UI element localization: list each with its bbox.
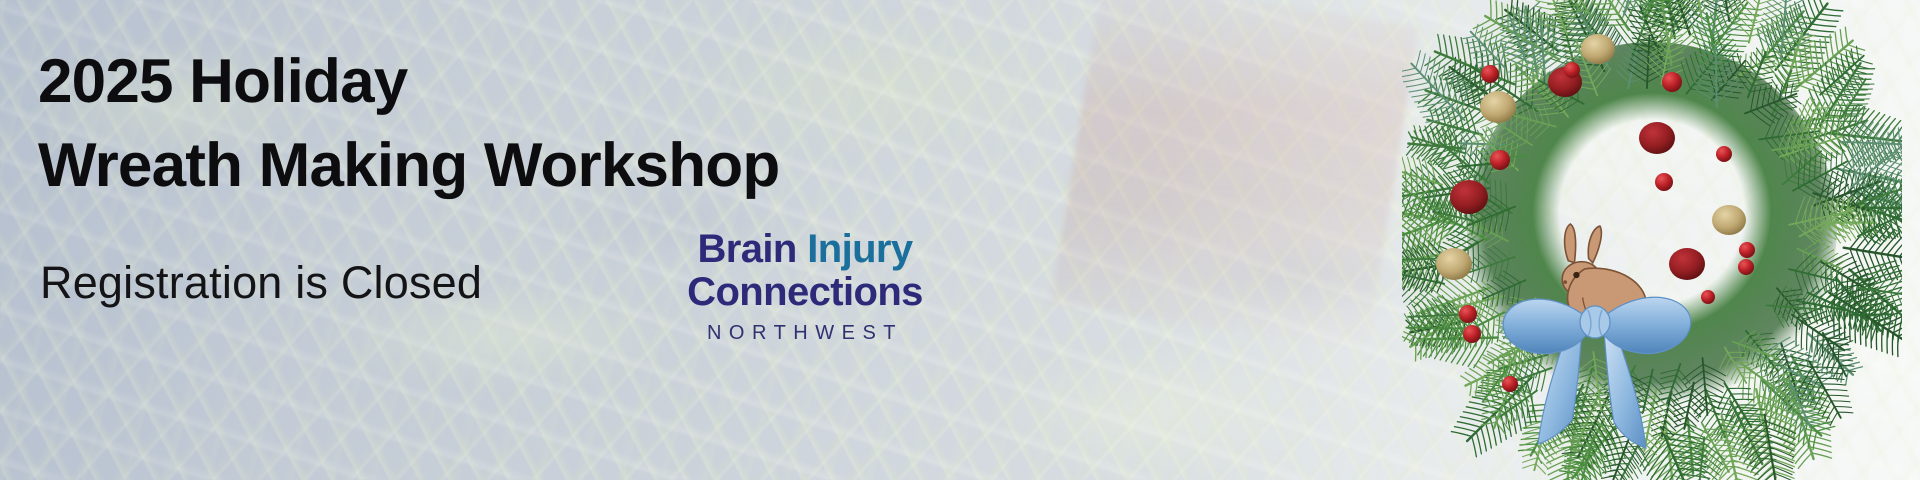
holiday-workshop-banner: 2025 Holiday Wreath Making Workshop Regi… xyxy=(0,0,1920,480)
page-title: 2025 Holiday Wreath Making Workshop xyxy=(38,40,779,207)
organization-logo: Brain Injury Connections NORTHWEST xyxy=(640,228,970,345)
logo-word-brain: Brain xyxy=(697,227,796,271)
logo-word-injury: Injury xyxy=(807,227,912,271)
logo-line-one: Brain Injury xyxy=(640,228,970,271)
registration-status: Registration is Closed xyxy=(40,260,482,305)
wreath-image xyxy=(1402,0,1902,480)
wreath-ring-base xyxy=(1467,42,1837,412)
logo-region-label: NORTHWEST xyxy=(640,322,970,345)
logo-line-two: Connections xyxy=(640,271,970,314)
logo-word-connections: Connections xyxy=(687,270,923,314)
